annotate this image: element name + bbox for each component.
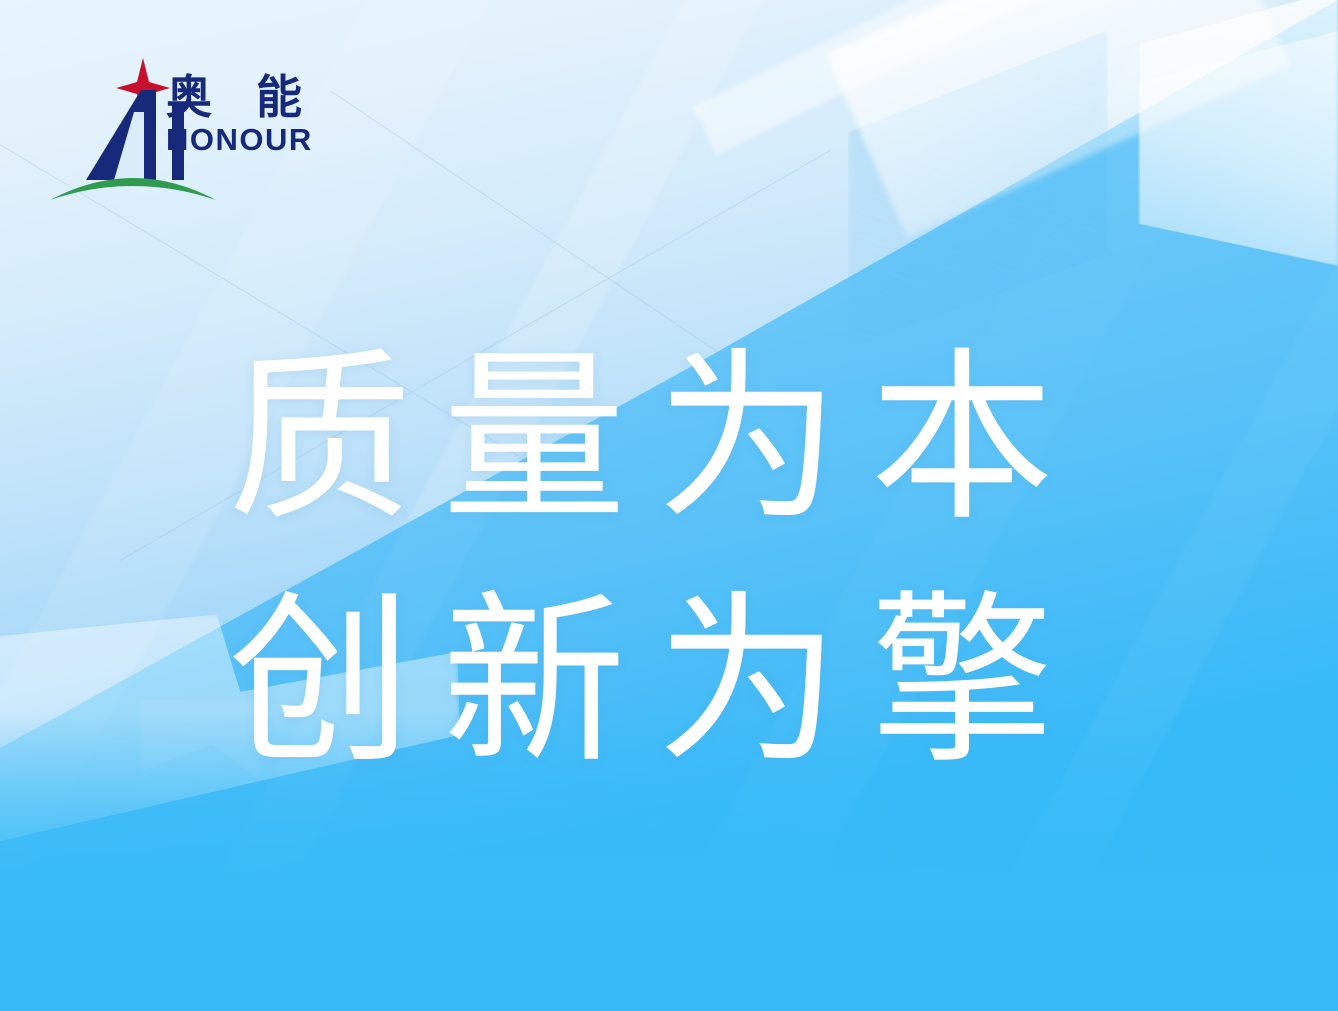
panel-tall-right-2 bbox=[1138, 5, 1338, 265]
logo-english-name: HONOUR bbox=[166, 124, 356, 155]
panel-beam bbox=[692, 0, 1183, 155]
panel-tall-right bbox=[1070, 0, 1338, 290]
poster-canvas: 奥 能 HONOUR 质量为本 创新为擎 bbox=[0, 0, 1338, 1011]
brand-logo: 奥 能 HONOUR bbox=[48, 52, 348, 202]
slogan-block: 质量为本 创新为擎 bbox=[228, 318, 1148, 804]
panel-roof bbox=[825, 0, 1290, 237]
panel-shadow-right bbox=[848, 30, 1108, 350]
logo-chinese-name: 奥 能 bbox=[166, 74, 356, 120]
slogan-line-2: 创新为擎 bbox=[228, 561, 1148, 804]
slogan-line-1: 质量为本 bbox=[228, 318, 1148, 561]
green-arc bbox=[50, 178, 216, 200]
logo-wordmark: 奥 能 HONOUR bbox=[166, 74, 356, 155]
